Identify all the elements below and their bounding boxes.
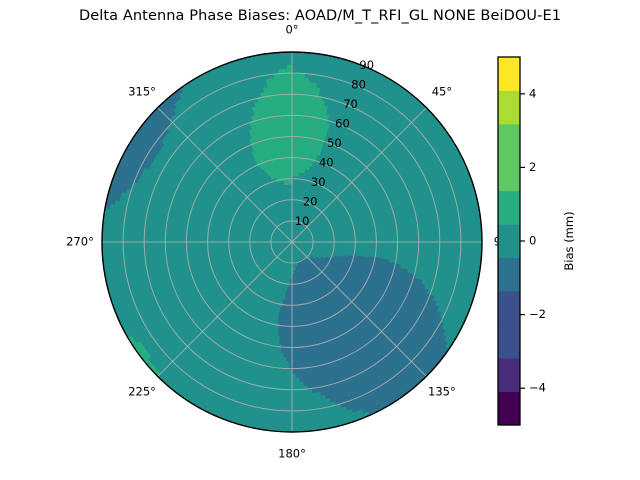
theta-tick-label: 270° bbox=[66, 235, 94, 249]
colorbar-tick-label: 0 bbox=[529, 234, 536, 248]
theta-tick-label: 45° bbox=[432, 85, 452, 99]
theta-tick-label: 135° bbox=[428, 384, 456, 398]
figure-canvas: Delta Antenna Phase Biases: AOAD/M_T_RFI… bbox=[0, 0, 640, 480]
colorbar-tick-label: 2 bbox=[529, 160, 536, 174]
colorbar-tick-label: 4 bbox=[529, 86, 536, 100]
colorbar-segment bbox=[498, 358, 520, 392]
r-tick-label: 10 bbox=[295, 214, 310, 228]
r-tick-label: 80 bbox=[351, 77, 366, 91]
r-tick-label: 50 bbox=[327, 136, 342, 150]
colorbar-tick-label: −4 bbox=[529, 381, 546, 395]
colorbar-segment bbox=[498, 157, 520, 191]
colorbar-segment bbox=[498, 124, 520, 158]
theta-tick-label: 225° bbox=[128, 384, 156, 398]
colorbar-segment bbox=[498, 191, 520, 225]
colorbar-segment bbox=[498, 57, 520, 91]
colorbar: −4−2024 bbox=[498, 57, 546, 425]
r-tick-label: 90 bbox=[359, 58, 374, 72]
r-tick-label: 20 bbox=[303, 194, 318, 208]
polar-plot: 0°45°90°135°180°225°270°315° 10203040506… bbox=[0, 0, 640, 480]
r-tick-label: 30 bbox=[311, 175, 326, 189]
colorbar-segment bbox=[498, 90, 520, 124]
r-tick-label: 40 bbox=[319, 155, 334, 169]
polar-grid bbox=[102, 52, 482, 432]
colorbar-segment bbox=[498, 392, 520, 426]
colorbar-tick-label: −2 bbox=[529, 307, 546, 321]
theta-tick-label: 180° bbox=[278, 447, 306, 461]
page-title: Delta Antenna Phase Biases: AOAD/M_T_RFI… bbox=[0, 8, 640, 24]
colorbar-segment bbox=[498, 224, 520, 258]
colorbar-segment bbox=[498, 291, 520, 325]
r-tick-label: 70 bbox=[343, 97, 358, 111]
theta-tick-label: 315° bbox=[128, 85, 156, 99]
theta-tick-label: 0° bbox=[285, 23, 298, 37]
colorbar-segment bbox=[498, 258, 520, 292]
r-tick-label: 60 bbox=[335, 116, 350, 130]
colorbar-segment bbox=[498, 325, 520, 359]
colorbar-axis-label: Bias (mm) bbox=[562, 211, 576, 270]
